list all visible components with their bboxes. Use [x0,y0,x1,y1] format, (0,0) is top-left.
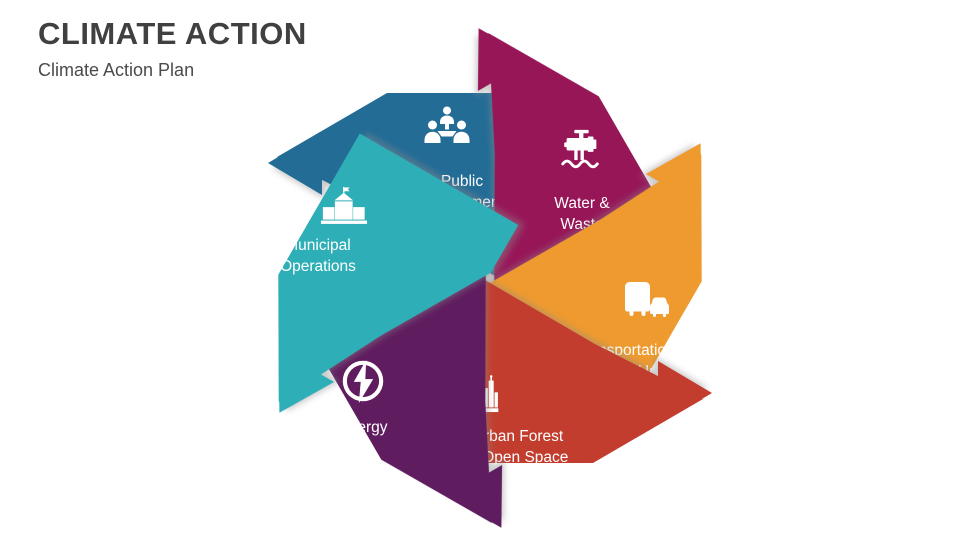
segment-label-line1: Municipal [285,237,350,254]
climate-action-wheel: Public Involvement Water & Waste [230,18,750,538]
pinwheel-svg: Public Involvement Water & Waste [230,18,750,538]
segment-label-line1: Energy [338,419,387,436]
slide-canvas: CLIMATE ACTION Climate Action Plan [0,0,960,540]
segment-label-line2: Operations [280,258,356,275]
segment-label-line1: Water & [554,195,610,212]
